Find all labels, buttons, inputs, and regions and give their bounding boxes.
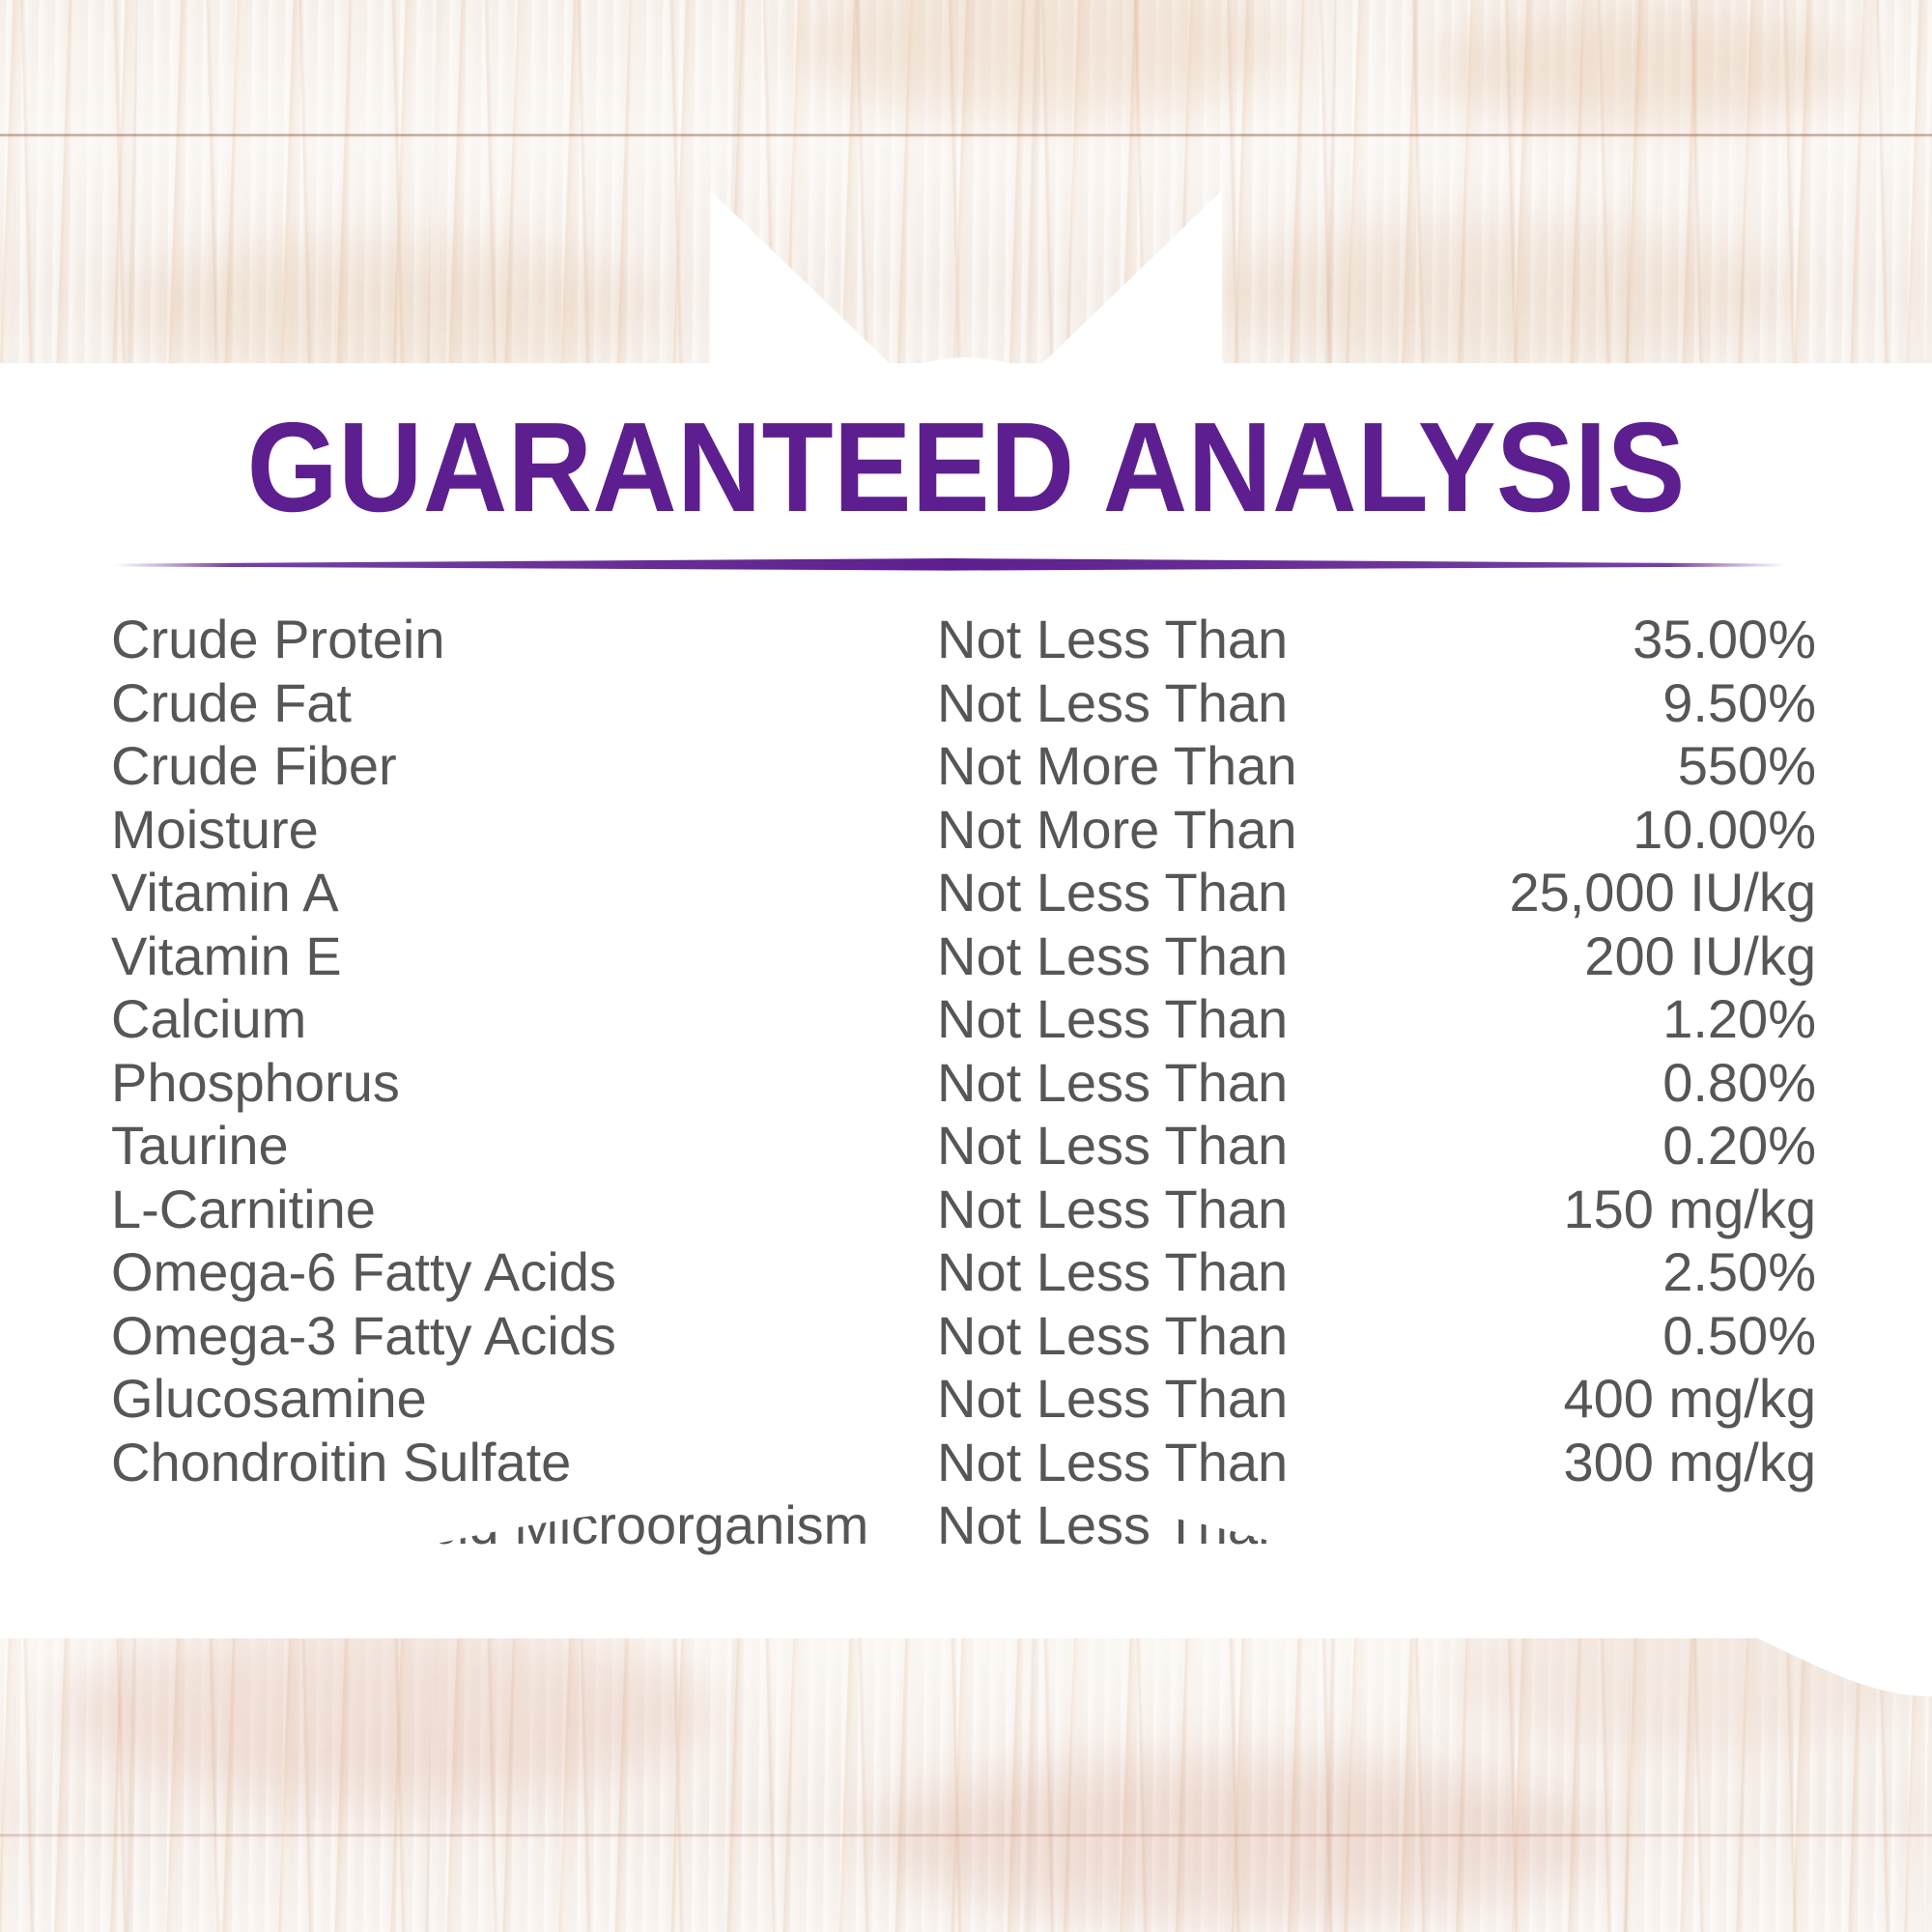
nutrient-value: 150 mg/kg bbox=[1304, 1178, 1821, 1241]
qualifier-text: Not Less Than bbox=[937, 987, 1304, 1051]
nutrient-value: 0.20% bbox=[1304, 1114, 1821, 1178]
nutrient-name: Vitamin A bbox=[111, 861, 937, 924]
nutrient-name: Vitamin E bbox=[111, 924, 937, 988]
qualifier-text: Not More Than bbox=[937, 798, 1304, 862]
table-row: Glucosamine Not Less Than 400 mg/kg bbox=[111, 1367, 1821, 1431]
nutrient-value: 1.20% bbox=[1304, 987, 1821, 1051]
qualifier-text: Not Less Than bbox=[937, 1051, 1304, 1115]
guaranteed-analysis-graphic: GUARANTEED ANALYSIS Crude Protein Not Le… bbox=[0, 0, 1932, 1932]
table-row: L-Carnitine Not Less Than 150 mg/kg bbox=[111, 1178, 1821, 1241]
qualifier-text: Not Less Than bbox=[937, 1431, 1304, 1494]
nutrient-name: Chondroitin Sulfate bbox=[111, 1431, 937, 1494]
cat-ears-icon bbox=[667, 174, 1265, 377]
nutrient-value: 300 mg/kg bbox=[1304, 1431, 1821, 1494]
nutrient-value: 10.00% bbox=[1304, 798, 1821, 862]
nutrient-name: Crude Fiber bbox=[111, 734, 937, 798]
nutrient-value: 0.80% bbox=[1304, 1051, 1821, 1115]
qualifier-text: Not Less Than bbox=[937, 1304, 1304, 1368]
nutrient-value: 0.50% bbox=[1304, 1304, 1821, 1368]
table-row: Taurine Not Less Than 0.20% bbox=[111, 1114, 1821, 1178]
nutrient-value: 400 mg/kg bbox=[1304, 1367, 1821, 1431]
table-row: Crude Fat Not Less Than 9.50% bbox=[111, 671, 1821, 735]
plank-seam bbox=[0, 133, 1932, 137]
page-title: GUARANTEED ANALYSIS bbox=[77, 404, 1855, 531]
table-row: Crude Protein Not Less Than 35.00% bbox=[111, 608, 1821, 671]
qualifier-text: Not Less Than bbox=[937, 671, 1304, 735]
plank-seam bbox=[0, 1833, 1932, 1837]
nutrient-value: 25,000 IU/kg bbox=[1304, 861, 1821, 924]
title-divider bbox=[114, 558, 1785, 572]
wave-divider-icon bbox=[0, 1503, 1932, 1812]
qualifier-text: Not Less Than bbox=[937, 608, 1304, 671]
table-row: Moisture Not More Than 10.00% bbox=[111, 798, 1821, 862]
nutrient-name: Taurine bbox=[111, 1114, 937, 1178]
nutrient-value: 9.50% bbox=[1304, 671, 1821, 735]
nutrient-value: 200 IU/kg bbox=[1304, 924, 1821, 988]
table-row: Calcium Not Less Than 1.20% bbox=[111, 987, 1821, 1051]
table-row: Omega-6 Fatty Acids Not Less Than 2.50% bbox=[111, 1240, 1821, 1304]
table-row: Vitamin E Not Less Than 200 IU/kg bbox=[111, 924, 1821, 988]
qualifier-text: Not More Than bbox=[937, 734, 1304, 798]
qualifier-text: Not Less Than bbox=[937, 1367, 1304, 1431]
nutrient-name: Phosphorus bbox=[111, 1051, 937, 1115]
nutrient-value: 2.50% bbox=[1304, 1240, 1821, 1304]
nutrient-name: Moisture bbox=[111, 798, 937, 862]
nutrient-name: Calcium bbox=[111, 987, 937, 1051]
qualifier-text: Not Less Than bbox=[937, 1114, 1304, 1178]
guaranteed-analysis-table: Crude Protein Not Less Than 35.00% Crude… bbox=[111, 608, 1821, 1557]
qualifier-text: Not Less Than bbox=[937, 1240, 1304, 1304]
nutrient-name: Omega-6 Fatty Acids bbox=[111, 1240, 937, 1304]
nutrient-value: 35.00% bbox=[1304, 608, 1821, 671]
qualifier-text: Not Less Than bbox=[937, 924, 1304, 988]
table-row: Chondroitin Sulfate Not Less Than 300 mg… bbox=[111, 1431, 1821, 1494]
table-row: Phosphorus Not Less Than 0.80% bbox=[111, 1051, 1821, 1115]
nutrient-value: 550% bbox=[1304, 734, 1821, 798]
table-row: Vitamin A Not Less Than 25,000 IU/kg bbox=[111, 861, 1821, 924]
nutrient-name: Glucosamine bbox=[111, 1367, 937, 1431]
nutrient-name: Omega-3 Fatty Acids bbox=[111, 1304, 937, 1368]
nutrient-name: Crude Protein bbox=[111, 608, 937, 671]
table-row: Crude Fiber Not More Than 550% bbox=[111, 734, 1821, 798]
qualifier-text: Not Less Than bbox=[937, 1178, 1304, 1241]
qualifier-text: Not Less Than bbox=[937, 861, 1304, 924]
nutrient-name: L-Carnitine bbox=[111, 1178, 937, 1241]
table-row: Omega-3 Fatty Acids Not Less Than 0.50% bbox=[111, 1304, 1821, 1368]
nutrient-name: Crude Fat bbox=[111, 671, 937, 735]
